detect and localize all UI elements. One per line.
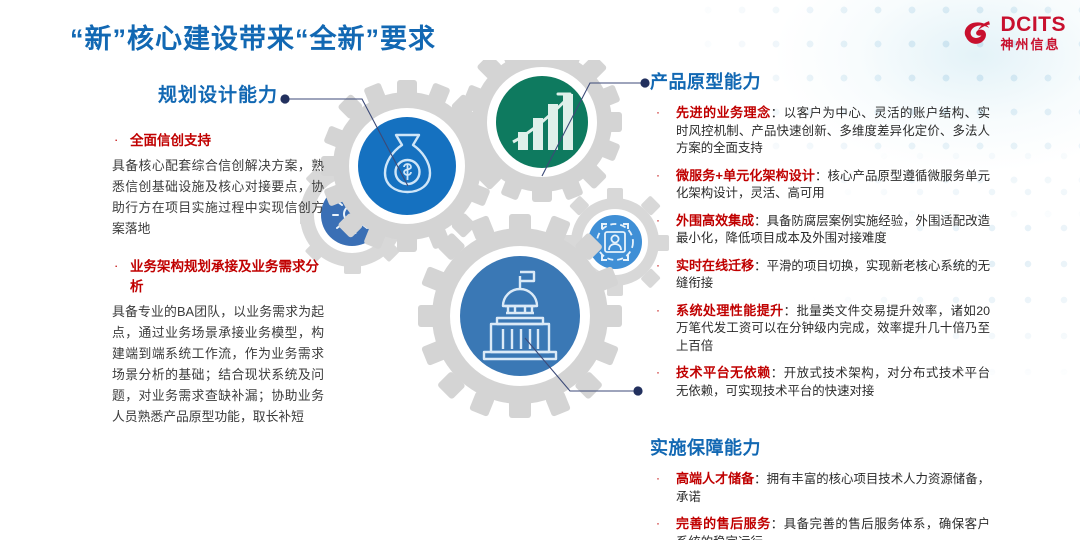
item-key: 外围高效集成: [676, 213, 754, 228]
item-key: 高端人才储备: [676, 471, 754, 486]
item-sep: ：: [754, 472, 766, 486]
item-key: 微服务+单元化架构设计: [676, 168, 815, 183]
left-item-1: · 全面信创支持 具备核心配套综合信创解决方案，熟悉信创基础设施及核心对接要点，…: [112, 131, 324, 239]
item-key: 系统处理性能提升: [676, 303, 784, 318]
left-item-2-body: 具备专业的BA团队，以业务需求为起点，通过业务场景承接业务模型，构建端到端系统工…: [112, 301, 324, 427]
section-product-prototype: 产品原型能力 · 先进的业务理念：以客户为中心、灵活的账户结构、实时风控机制、产…: [650, 68, 990, 400]
page-title: “新”核心建设带来“全新”要求: [70, 17, 436, 56]
bullet-icon: ·: [112, 257, 130, 297]
left-content-column: 规划设计能力 · 全面信创支持 具备核心配套综合信创解决方案，熟悉信创基础设施及…: [112, 80, 324, 445]
brand-logo: DCITS 神州信息: [961, 14, 1067, 51]
item-key: 技术平台无依赖: [676, 365, 771, 380]
item-sep: ：: [771, 366, 784, 380]
right-list-item: · 技术平台无依赖：开放式技术架构，对分布式技术平台无依赖，可实现技术平台的快速…: [650, 364, 990, 400]
left-item-2-title: 业务架构规划承接及业务需求分析: [130, 257, 324, 297]
item-key: 完善的售后服务: [676, 516, 771, 531]
right-list-item: · 完善的售后服务：具备完善的售后服务体系，确保客户系统的稳定运行: [650, 515, 990, 540]
item-key: 先进的业务理念: [676, 105, 771, 120]
item-sep: ：: [815, 169, 828, 183]
bullet-icon: ·: [650, 257, 676, 293]
item-sep: ：: [784, 304, 797, 318]
gear-cluster-graphic: [300, 60, 680, 460]
growth-chart-gear: [462, 60, 622, 202]
left-item-1-title: 全面信创支持: [130, 131, 211, 151]
section-heading-product-prototype: 产品原型能力: [650, 68, 990, 94]
left-item-2: · 业务架构规划承接及业务需求分析 具备专业的BA团队，以业务需求为起点，通过业…: [112, 257, 324, 427]
bullet-icon: ·: [650, 470, 676, 506]
right-list-item: · 实时在线迁移：平滑的项目切换，实现新老核心系统的无缝衔接: [650, 257, 990, 293]
bank-building-gear: [418, 214, 622, 418]
money-bag-gear: [321, 80, 493, 252]
bullet-icon: ·: [650, 167, 676, 203]
bullet-icon: ·: [650, 364, 676, 400]
right-content-column: 产品原型能力 · 先进的业务理念：以客户为中心、灵活的账户结构、实时风控机制、产…: [650, 68, 990, 540]
bullet-icon: ·: [650, 104, 676, 158]
item-sep: ：: [771, 106, 784, 120]
bullet-icon: ·: [112, 131, 130, 151]
dcits-swirl-icon: [961, 18, 995, 48]
left-item-1-body: 具备核心配套综合信创解决方案，熟悉信创基础设施及核心对接要点，协助行方在项目实施…: [112, 155, 324, 239]
item-sep: ：: [771, 517, 784, 531]
item-sep: ：: [754, 214, 766, 228]
right-list-item: · 系统处理性能提升：批量类文件交易提升效率，诸如20万笔代发工资可以在分钟级内…: [650, 302, 990, 356]
item-sep: ：: [754, 259, 766, 273]
bullet-icon: ·: [650, 302, 676, 356]
right-list-item: · 先进的业务理念：以客户为中心、灵活的账户结构、实时风控机制、产品快速创新、多…: [650, 104, 990, 158]
right-list-item: · 微服务+单元化架构设计：核心产品原型遵循微服务单元化架构设计，灵活、高可用: [650, 167, 990, 203]
logo-wordmark: DCITS: [1001, 14, 1067, 35]
right-list-item: · 外围高效集成：具备防腐层案例实施经验，外围适配改造最小化，降低项目成本及外围…: [650, 212, 990, 248]
bullet-icon: ·: [650, 515, 676, 540]
bullet-icon: ·: [650, 212, 676, 248]
section-heading-implementation: 实施保障能力: [650, 434, 990, 460]
section-implementation-guarantee: 实施保障能力 · 高端人才储备：拥有丰富的核心项目技术人力资源储备，承诺 · 完…: [650, 434, 990, 540]
section-heading-planning: 规划设计能力: [112, 80, 324, 107]
right-list-item: · 高端人才储备：拥有丰富的核心项目技术人力资源储备，承诺: [650, 470, 990, 506]
slide-canvas: “新”核心建设带来“全新”要求 DCITS 神州信息: [0, 0, 1080, 540]
logo-chinese-name: 神州信息: [1001, 38, 1067, 51]
item-key: 实时在线迁移: [676, 258, 754, 273]
